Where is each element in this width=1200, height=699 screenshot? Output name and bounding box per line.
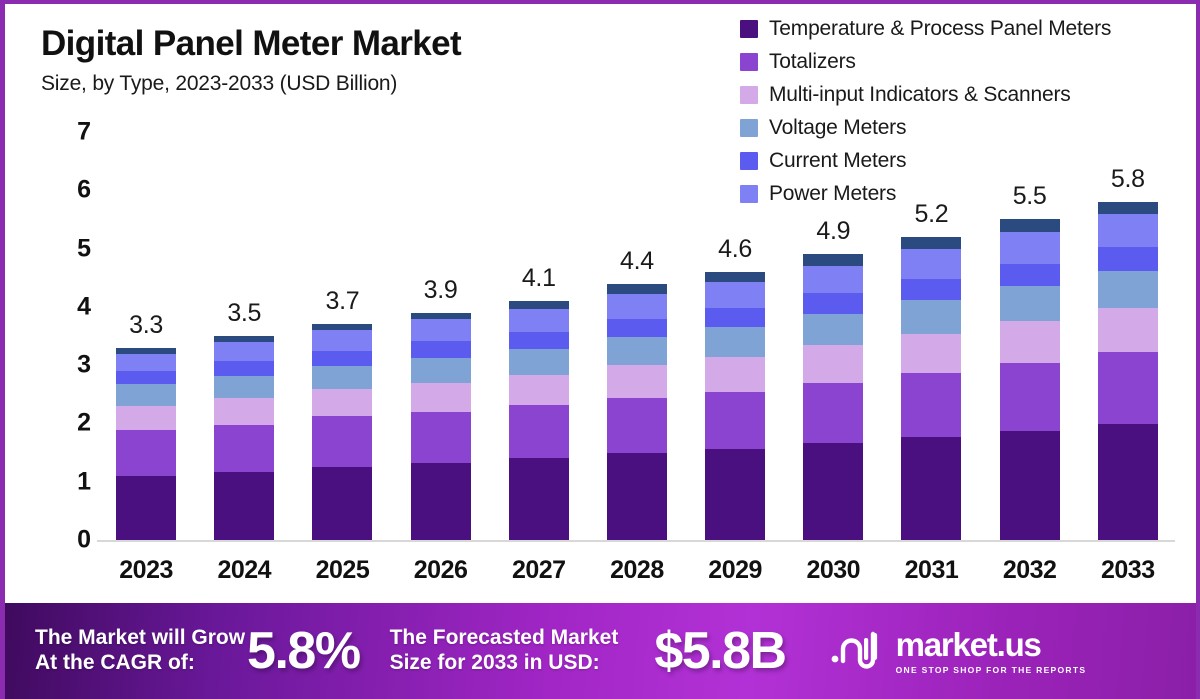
bar-segment[interactable] (705, 327, 765, 357)
bar-segment[interactable] (312, 467, 372, 540)
bar-segment[interactable] (214, 361, 274, 376)
bar-segment[interactable] (1098, 214, 1158, 247)
bar-segment[interactable] (803, 293, 863, 313)
bar-value-label: 4.1 (522, 264, 556, 293)
y-axis: 01234567 (43, 112, 91, 540)
bar-segment[interactable] (901, 373, 961, 437)
forecast-block: The Forecasted Market Size for 2033 in U… (390, 621, 786, 681)
legend-swatch-icon (740, 53, 758, 71)
bar-segment[interactable] (411, 341, 471, 357)
bar-segment[interactable] (901, 300, 961, 333)
cagr-caption: The Market will Grow At the CAGR of: (35, 626, 245, 676)
bar-segment[interactable] (214, 342, 274, 361)
forecast-value: $5.8B (654, 621, 785, 681)
legend-item-label: Temperature & Process Panel Meters (769, 17, 1111, 41)
legend-swatch-icon (740, 20, 758, 38)
bar-segment[interactable] (705, 392, 765, 449)
y-axis-tick: 7 (45, 118, 91, 147)
bar-segment[interactable] (116, 354, 176, 371)
bar-segment[interactable] (1098, 352, 1158, 424)
bar-group-2032[interactable]: 5.5 (981, 132, 1079, 540)
bar-segment[interactable] (116, 476, 176, 540)
bar-segment[interactable] (214, 376, 274, 399)
forecast-caption: The Forecasted Market Size for 2033 in U… (390, 626, 619, 676)
bar-segment[interactable] (214, 472, 274, 540)
bar-segment[interactable] (1000, 232, 1060, 263)
bar-segment[interactable] (607, 337, 667, 365)
y-axis-tick: 5 (45, 234, 91, 263)
legend-swatch-icon (740, 86, 758, 104)
bar-segment[interactable] (803, 345, 863, 382)
bar-segment[interactable] (1000, 286, 1060, 321)
legend-item-label: Totalizers (769, 50, 856, 74)
bar-value-label: 3.9 (424, 276, 458, 305)
bar-stack (705, 272, 765, 540)
market-us-logo-icon (830, 629, 886, 674)
bar-stack (116, 348, 176, 540)
bar-segment[interactable] (1000, 363, 1060, 431)
bar-segment[interactable] (1000, 431, 1060, 540)
bar-segment[interactable] (312, 416, 372, 467)
bar-segment[interactable] (1000, 321, 1060, 363)
bar-segment[interactable] (411, 412, 471, 463)
y-axis-tick: 1 (45, 467, 91, 496)
bar-segment[interactable] (116, 371, 176, 384)
bar-segment[interactable] (411, 319, 471, 341)
bar-segment[interactable] (411, 383, 471, 412)
x-axis-tick-2032: 2032 (981, 556, 1079, 594)
bar-segment[interactable] (116, 406, 176, 430)
bar-segment[interactable] (901, 237, 961, 249)
x-axis-tick-2030: 2030 (784, 556, 882, 594)
x-axis-tick-2027: 2027 (490, 556, 588, 594)
bar-segment[interactable] (803, 314, 863, 345)
bar-segment[interactable] (705, 357, 765, 392)
bar-segment[interactable] (214, 398, 274, 425)
bar-stack (901, 237, 961, 540)
bar-segment[interactable] (607, 294, 667, 319)
logo-tagline: ONE STOP SHOP FOR THE REPORTS (896, 665, 1087, 675)
y-axis-tick: 2 (45, 409, 91, 438)
bar-stack (607, 284, 667, 540)
bar-stack (803, 254, 863, 540)
axis-baseline (97, 540, 1175, 542)
bar-segment[interactable] (803, 254, 863, 265)
bar-value-label: 4.6 (718, 235, 752, 264)
x-axis-tick-2023: 2023 (97, 556, 195, 594)
bar-segment[interactable] (901, 437, 961, 540)
x-axis-tick-2029: 2029 (686, 556, 784, 594)
forecast-caption-line1: The Forecasted Market (390, 626, 619, 651)
bar-value-label: 5.5 (1013, 182, 1047, 211)
bar-segment[interactable] (901, 249, 961, 279)
bar-segment[interactable] (509, 458, 569, 540)
bar-segment[interactable] (1098, 202, 1158, 214)
bar-segment[interactable] (901, 334, 961, 374)
bar-segment[interactable] (116, 430, 176, 475)
bar-group-2031[interactable]: 5.2 (882, 132, 980, 540)
brand-logo[interactable]: market.us ONE STOP SHOP FOR THE REPORTS (830, 628, 1087, 675)
logo-text: market.us ONE STOP SHOP FOR THE REPORTS (896, 628, 1087, 675)
x-axis-tick-2024: 2024 (195, 556, 293, 594)
bar-segment[interactable] (509, 375, 569, 405)
bar-segment[interactable] (1000, 264, 1060, 287)
bar-segment[interactable] (214, 425, 274, 472)
x-axis-tick-2025: 2025 (293, 556, 391, 594)
bar-segment[interactable] (705, 282, 765, 308)
bar-segment[interactable] (607, 319, 667, 337)
cagr-caption-line2: At the CAGR of: (35, 651, 245, 676)
bar-value-label: 5.8 (1111, 165, 1145, 194)
bar-segment[interactable] (312, 351, 372, 366)
bar-group-2028[interactable]: 4.4 (588, 132, 686, 540)
bar-segment[interactable] (607, 398, 667, 453)
logo-wordmark: market.us (896, 628, 1087, 661)
legend-item-1[interactable]: Totalizers (740, 45, 1111, 78)
cagr-caption-line1: The Market will Grow (35, 626, 245, 651)
x-axis: 2023202420252026202720282029203020312032… (97, 556, 1177, 594)
bar-segment[interactable] (312, 389, 372, 416)
bar-value-label: 5.2 (915, 200, 949, 229)
forecast-caption-line2: Size for 2033 in USD: (390, 651, 619, 676)
bar-segment[interactable] (803, 383, 863, 444)
y-axis-tick: 6 (45, 176, 91, 205)
bar-segment[interactable] (1098, 308, 1158, 352)
bar-segment[interactable] (411, 463, 471, 540)
bar-group-2026[interactable]: 3.9 (392, 132, 490, 540)
bar-value-label: 3.7 (325, 287, 359, 316)
bar-stack (411, 313, 471, 540)
bar-group-2023[interactable]: 3.3 (97, 132, 195, 540)
bar-stack (509, 301, 569, 540)
bar-stack (214, 336, 274, 540)
cagr-value: 5.8% (247, 621, 360, 681)
bar-stack (1098, 202, 1158, 540)
bar-segment[interactable] (509, 332, 569, 349)
infographic-root: Digital Panel Meter Market Size, by Type… (0, 0, 1200, 699)
bar-segment[interactable] (509, 349, 569, 375)
x-axis-tick-2031: 2031 (882, 556, 980, 594)
y-axis-tick: 4 (45, 292, 91, 321)
cagr-block: The Market will Grow At the CAGR of: 5.8… (35, 621, 360, 681)
bar-segment[interactable] (411, 358, 471, 383)
bar-segment[interactable] (901, 279, 961, 301)
bar-segment[interactable] (1000, 219, 1060, 232)
bar-group-2027[interactable]: 4.1 (490, 132, 588, 540)
bar-segment[interactable] (509, 405, 569, 458)
header: Digital Panel Meter Market Size, by Type… (41, 26, 461, 96)
bar-segment[interactable] (116, 384, 176, 406)
x-axis-tick-2033: 2033 (1079, 556, 1177, 594)
bar-segment[interactable] (312, 330, 372, 350)
bar-segment[interactable] (1098, 424, 1158, 540)
legend-item-label: Multi-input Indicators & Scanners (769, 83, 1071, 107)
y-axis-tick: 0 (45, 526, 91, 555)
bar-segment[interactable] (1098, 271, 1158, 308)
bar-group-2025[interactable]: 3.7 (293, 132, 391, 540)
legend-item-0[interactable]: Temperature & Process Panel Meters (740, 12, 1111, 45)
page-title: Digital Panel Meter Market (41, 26, 461, 63)
bar-segment[interactable] (607, 453, 667, 540)
bar-group-2029[interactable]: 4.6 (686, 132, 784, 540)
bar-stack (312, 324, 372, 540)
bar-segment[interactable] (803, 266, 863, 294)
bar-value-label: 4.9 (816, 217, 850, 246)
bar-segment[interactable] (803, 443, 863, 540)
bar-segment[interactable] (607, 284, 667, 294)
bar-segment[interactable] (312, 366, 372, 389)
bar-value-label: 3.5 (227, 299, 261, 328)
bar-segment[interactable] (607, 365, 667, 398)
bar-value-label: 3.3 (129, 311, 163, 340)
x-axis-tick-2028: 2028 (588, 556, 686, 594)
bar-segment[interactable] (509, 309, 569, 332)
y-axis-tick: 3 (45, 351, 91, 380)
bar-segment[interactable] (509, 301, 569, 309)
bar-value-label: 4.4 (620, 247, 654, 276)
bar-segment[interactable] (705, 272, 765, 282)
legend-item-2[interactable]: Multi-input Indicators & Scanners (740, 78, 1111, 111)
bar-group-2030[interactable]: 4.9 (784, 132, 882, 540)
summary-banner: The Market will Grow At the CAGR of: 5.8… (5, 603, 1200, 699)
bar-group-2024[interactable]: 3.5 (195, 132, 293, 540)
bar-segment[interactable] (705, 308, 765, 327)
bar-segment[interactable] (1098, 247, 1158, 271)
bar-segment[interactable] (705, 449, 765, 541)
bar-group-2033[interactable]: 5.8 (1079, 132, 1177, 540)
bar-stack (1000, 219, 1060, 540)
x-axis-tick-2026: 2026 (392, 556, 490, 594)
bar-series-area: 3.33.53.73.94.14.44.64.95.25.55.8 (97, 132, 1177, 540)
chart-subtitle: Size, by Type, 2023-2033 (USD Billion) (41, 72, 461, 96)
